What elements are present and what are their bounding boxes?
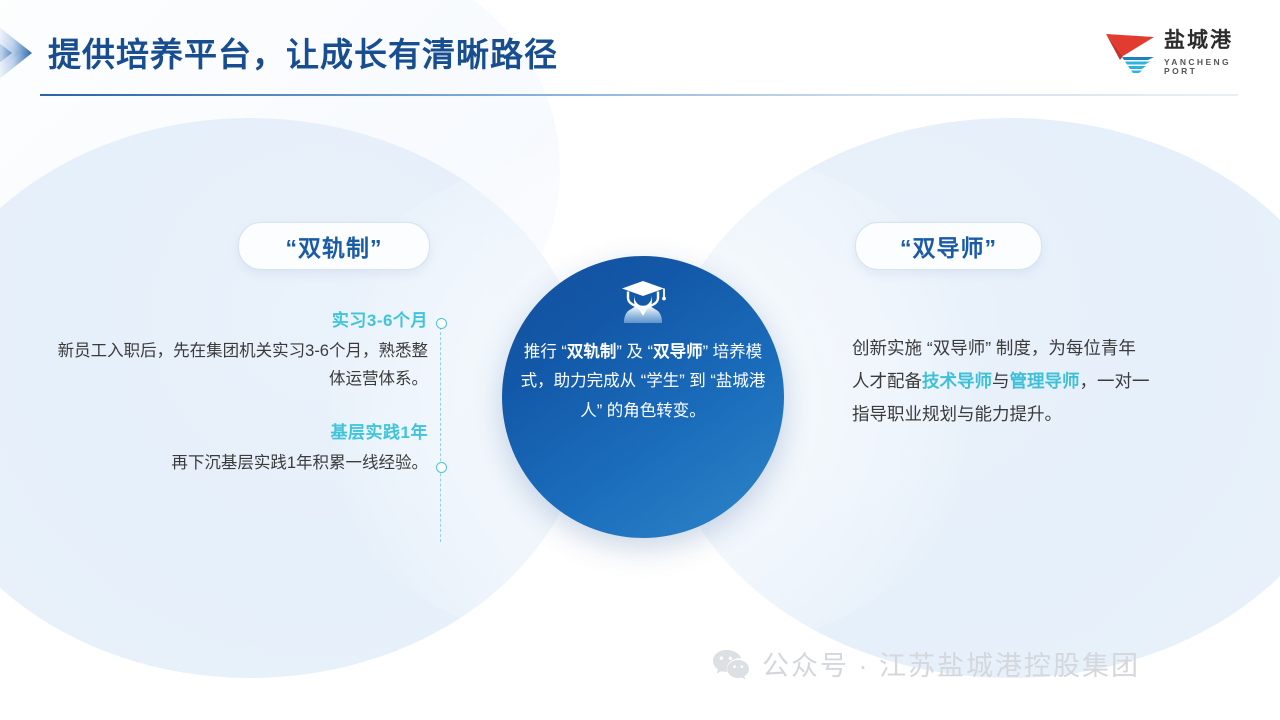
right-body: 创新实施 “双导师” 制度，为每位青年人才配备技术导师与管理导师，一对一指导职业… (852, 332, 1152, 431)
timeline-dot-2 (436, 462, 447, 473)
center-highlight-circle: 推行 “双轨制” 及 “双导师” 培养模式，助力完成从 “学生” 到 “盐城港人… (502, 256, 784, 538)
watermark-text: 公众号 · 江苏盐城港控股集团 (762, 644, 1140, 683)
brand-logo: 盐城港 YANCHENG PORT (1098, 28, 1244, 80)
center-description: 推行 “双轨制” 及 “双导师” 培养模式，助力完成从 “学生” 到 “盐城港人… (518, 338, 768, 426)
page-title: 提供培养平台，让成长有清晰路径 (48, 28, 558, 76)
wechat-icon (712, 648, 750, 680)
right-text-highlight-2: 管理导师 (1010, 371, 1080, 391)
right-text-seg-2: 与 (992, 371, 1010, 391)
timeline-dashed-line (440, 322, 441, 542)
chevron-right-icon (0, 24, 50, 82)
center-text-seg-1: 推行 “ (524, 343, 567, 361)
center-text-seg-4: 双导师 (653, 343, 703, 361)
left-item-2-body: 再下沉基层实践1年积累一线经验。 (56, 449, 428, 477)
logo-text-cn: 盐城港 (1164, 30, 1233, 51)
left-item-1: 实习3-6个月 新员工入职后，先在集团机关实习3-6个月，熟悉整体运营体系。 (56, 306, 428, 394)
graduate-icon (614, 276, 672, 334)
watermark: 公众号 · 江苏盐城港控股集团 (712, 644, 1140, 683)
sail-wave-icon (1098, 30, 1158, 76)
left-item-2-heading: 基层实践1年 (56, 418, 428, 443)
left-item-2: 基层实践1年 再下沉基层实践1年积累一线经验。 (56, 418, 428, 477)
timeline-dot-1 (436, 318, 447, 329)
left-item-1-heading: 实习3-6个月 (56, 306, 428, 331)
right-content-column: 创新实施 “双导师” 制度，为每位青年人才配备技术导师与管理导师，一对一指导职业… (852, 332, 1152, 431)
badge-dual-track[interactable]: “双轨制” (238, 222, 430, 270)
header-divider (40, 94, 1238, 96)
center-text-seg-3: ” 及 “ (616, 343, 653, 361)
slide-root: 提供培养平台，让成长有清晰路径 盐城港 YANCHENG PORT “双轨制” … (0, 0, 1280, 720)
left-content-column: 实习3-6个月 新员工入职后，先在集团机关实习3-6个月，熟悉整体运营体系。 基… (56, 306, 428, 477)
badge-dual-mentor[interactable]: “双导师” (855, 222, 1042, 270)
left-item-1-body: 新员工入职后，先在集团机关实习3-6个月，熟悉整体运营体系。 (56, 337, 428, 394)
slide-header: 提供培养平台，让成长有清晰路径 (0, 0, 1280, 108)
right-text-highlight-1: 技术导师 (922, 371, 992, 391)
logo-text-en: YANCHENG PORT (1164, 58, 1244, 75)
left-column-spacer (56, 394, 428, 418)
center-text-seg-2: 双轨制 (567, 343, 617, 361)
